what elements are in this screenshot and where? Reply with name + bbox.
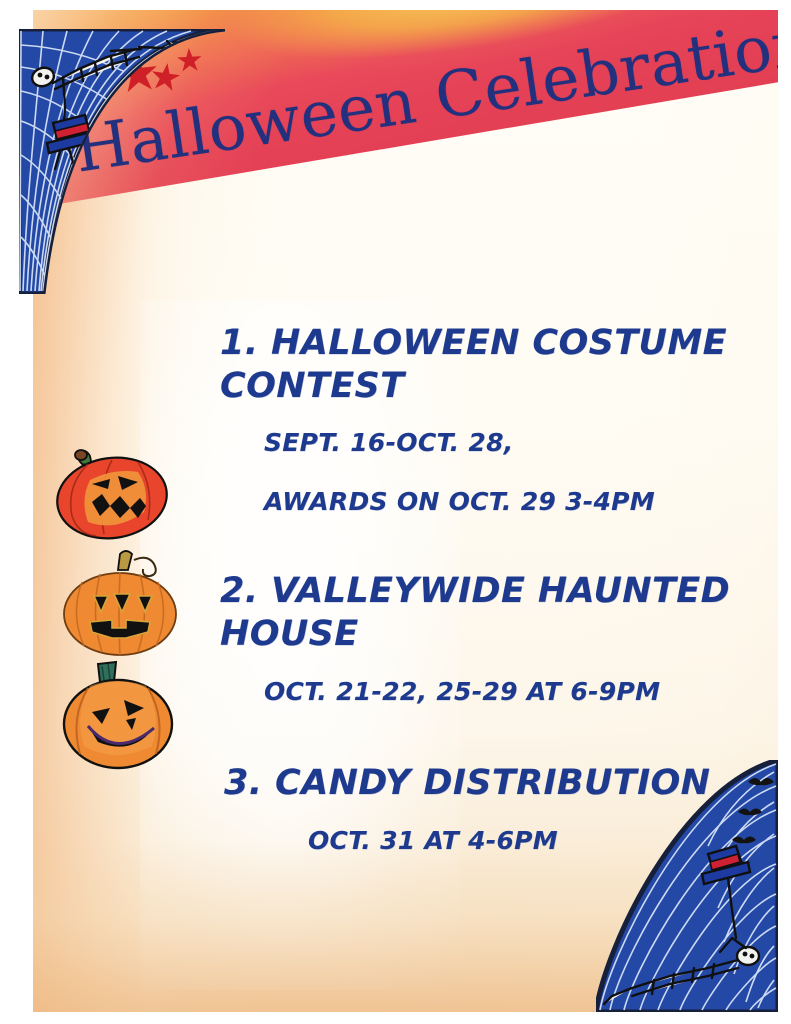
- event-1-heading-line-2: CONTEST: [214, 365, 759, 408]
- event-list: 1. HALLOWEEN COSTUME CONTEST SEPT. 16-OC…: [214, 322, 759, 863]
- event-1-detail-2: AWARDS ON OCT. 29 3-4PM: [264, 486, 759, 519]
- event-2-details: OCT. 21-22, 25-29 AT 6-9PM: [214, 676, 759, 709]
- event-1-heading-line-1: 1. HALLOWEEN COSTUME: [214, 322, 759, 365]
- jack-o-lantern-smiling-icon: [58, 660, 176, 770]
- event-1-detail-1: SEPT. 16-OCT. 28,: [264, 427, 759, 460]
- jack-o-lantern-triangle-eyes-icon: [60, 548, 180, 658]
- event-3-heading-line-1: 3. CANDY DISTRIBUTION: [214, 762, 759, 805]
- event-3-detail-1: OCT. 31 AT 4-6PM: [308, 825, 759, 858]
- event-2-heading-line-1: 2. VALLEYWIDE HAUNTED: [214, 570, 759, 613]
- event-3-details: OCT. 31 AT 4-6PM: [214, 825, 759, 858]
- spider-web-corner-top-left-icon: [19, 29, 225, 294]
- jack-o-lantern-zigzag-icon: [52, 446, 174, 541]
- event-1-details: SEPT. 16-OCT. 28, AWARDS ON OCT. 29 3-4P…: [214, 427, 759, 518]
- event-2-detail-1: OCT. 21-22, 25-29 AT 6-9PM: [264, 676, 759, 709]
- flyer-page: Halloween Celebration: [0, 0, 791, 1024]
- event-item-3: 3. CANDY DISTRIBUTION OCT. 31 AT 4-6PM: [214, 762, 759, 857]
- event-item-1: 1. HALLOWEEN COSTUME CONTEST SEPT. 16-OC…: [214, 322, 759, 518]
- event-item-2: 2. VALLEYWIDE HAUNTED HOUSE OCT. 21-22, …: [214, 570, 759, 708]
- event-2-heading-line-2: HOUSE: [214, 613, 759, 656]
